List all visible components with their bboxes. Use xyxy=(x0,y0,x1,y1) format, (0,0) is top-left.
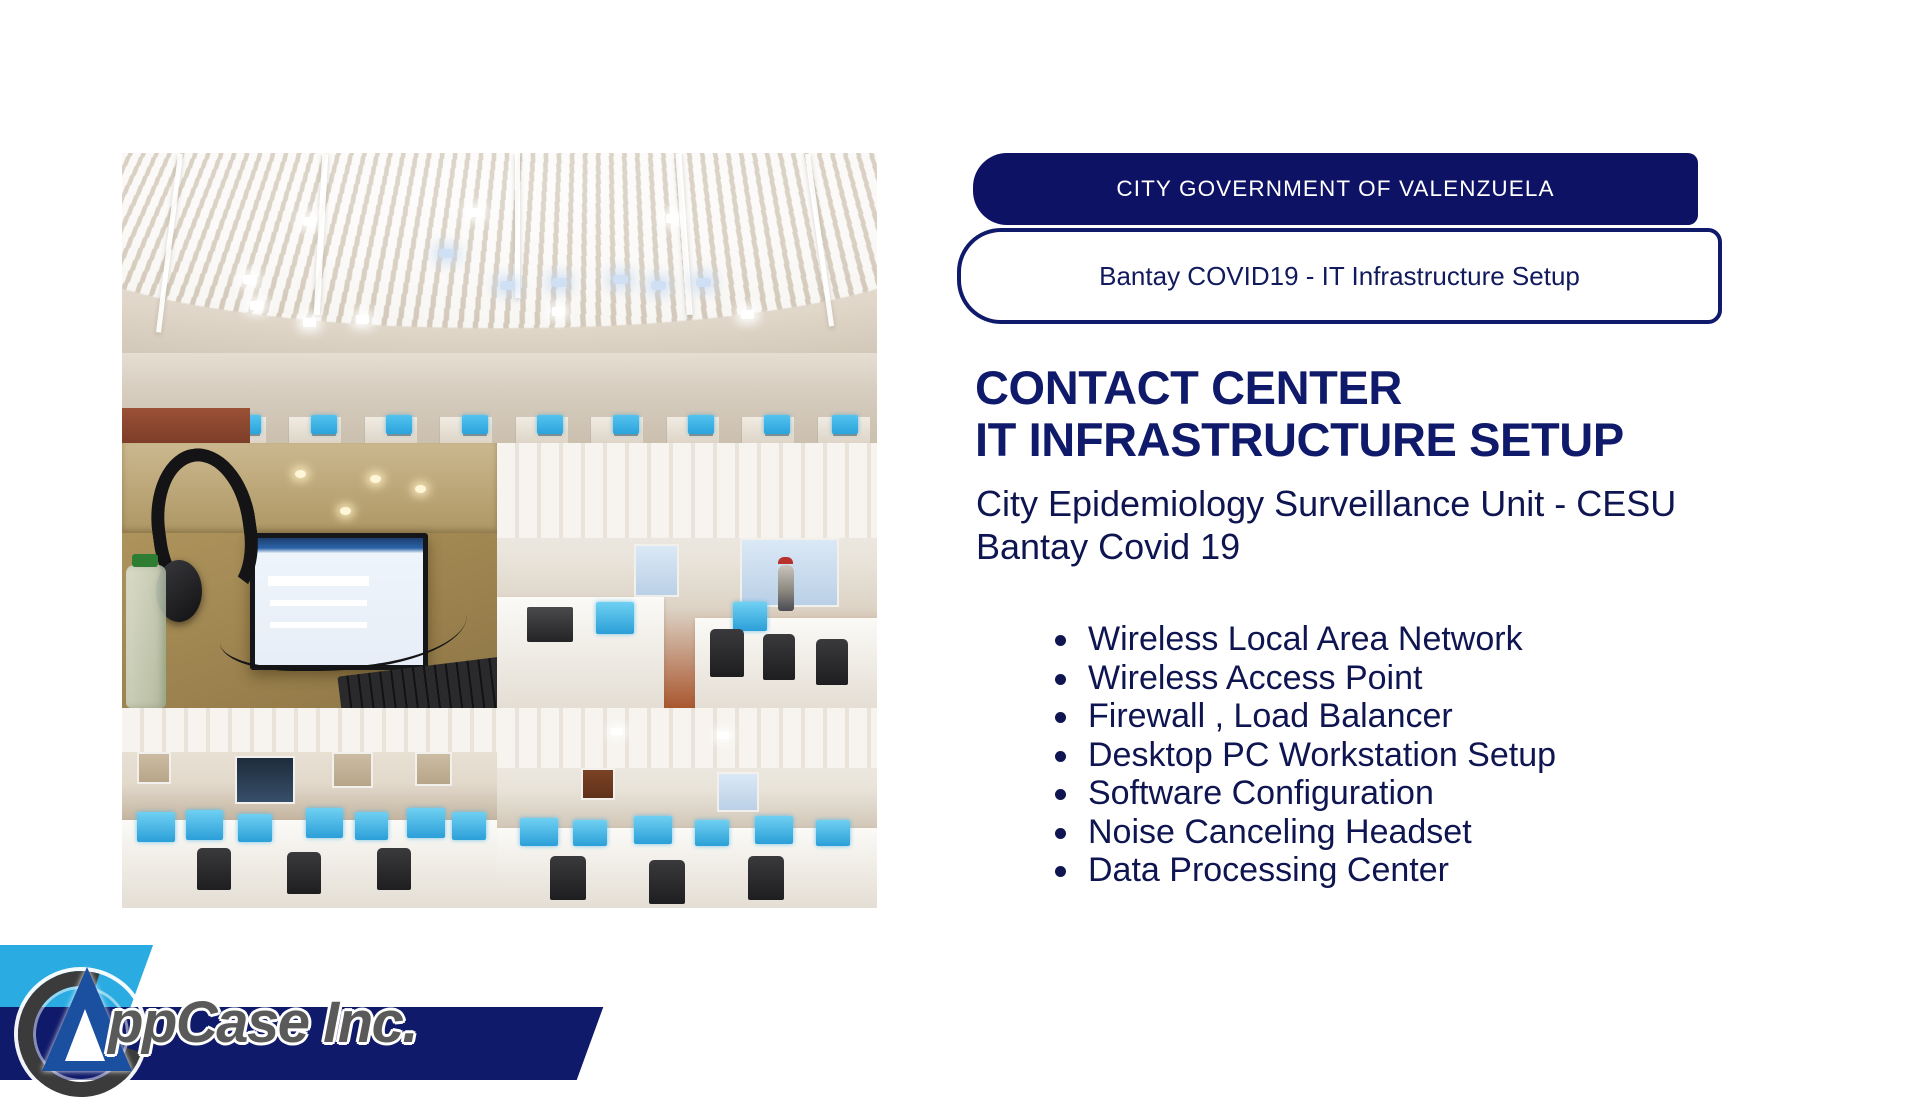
photo-headset-closeup xyxy=(122,443,497,708)
organization-ribbon: CITY GOVERNMENT OF VALENZUELA xyxy=(973,153,1698,225)
photo-workstation-row xyxy=(497,708,877,908)
photo-panoramic-hall xyxy=(122,153,877,443)
list-item: Data Processing Center xyxy=(1088,851,1888,890)
company-name-label: ppCase Inc. xyxy=(108,989,417,1056)
scope-list: Wireless Local Area Network Wireless Acc… xyxy=(1040,620,1888,890)
logo-letter-a-counter-icon xyxy=(65,1009,105,1061)
page-subtitle-line-2: Bantay Covid 19 xyxy=(976,525,1856,568)
company-logo: ppCase Inc. xyxy=(0,945,640,1080)
organization-label: CITY GOVERNMENT OF VALENZUELA xyxy=(1116,176,1554,202)
photo-night-workstations xyxy=(122,708,497,908)
list-item: Noise Canceling Headset xyxy=(1088,813,1888,852)
page-title-line-2: IT INFRASTRUCTURE SETUP xyxy=(975,414,1835,466)
project-label: Bantay COVID19 - IT Infrastructure Setup xyxy=(1099,261,1580,292)
list-item: Wireless Access Point xyxy=(1088,659,1888,698)
page-title-line-1: CONTACT CENTER xyxy=(975,362,1835,414)
bullet-dot-icon xyxy=(1055,866,1066,877)
bullet-dot-icon xyxy=(1055,751,1066,762)
page-subtitle: City Epidemiology Surveillance Unit - CE… xyxy=(976,482,1856,568)
bullet-dot-icon xyxy=(1055,674,1066,685)
list-item-label: Wireless Local Area Network xyxy=(1088,620,1523,658)
bullet-dot-icon xyxy=(1055,789,1066,800)
page-title: CONTACT CENTER IT INFRASTRUCTURE SETUP xyxy=(975,362,1835,465)
page-subtitle-line-1: City Epidemiology Surveillance Unit - CE… xyxy=(976,482,1856,525)
list-item-label: Desktop PC Workstation Setup xyxy=(1088,736,1556,774)
photo-collage xyxy=(122,153,877,908)
bullet-dot-icon xyxy=(1055,712,1066,723)
photo-row-top xyxy=(122,153,877,443)
list-item-label: Firewall , Load Balancer xyxy=(1088,697,1453,735)
photo-row-bottom xyxy=(122,708,877,908)
list-item-label: Wireless Access Point xyxy=(1088,659,1422,697)
bullet-dot-icon xyxy=(1055,828,1066,839)
photo-desk-row-with-person xyxy=(497,443,877,708)
list-item-label: Noise Canceling Headset xyxy=(1088,813,1472,851)
list-item: Wireless Local Area Network xyxy=(1088,620,1888,659)
list-item-label: Data Processing Center xyxy=(1088,851,1449,889)
list-item: Firewall , Load Balancer xyxy=(1088,697,1888,736)
list-item-label: Software Configuration xyxy=(1088,774,1434,812)
project-ribbon: Bantay COVID19 - IT Infrastructure Setup xyxy=(957,228,1722,324)
photo-row-middle xyxy=(122,443,877,708)
list-item: Desktop PC Workstation Setup xyxy=(1088,736,1888,775)
bullet-dot-icon xyxy=(1055,635,1066,646)
list-item: Software Configuration xyxy=(1088,774,1888,813)
